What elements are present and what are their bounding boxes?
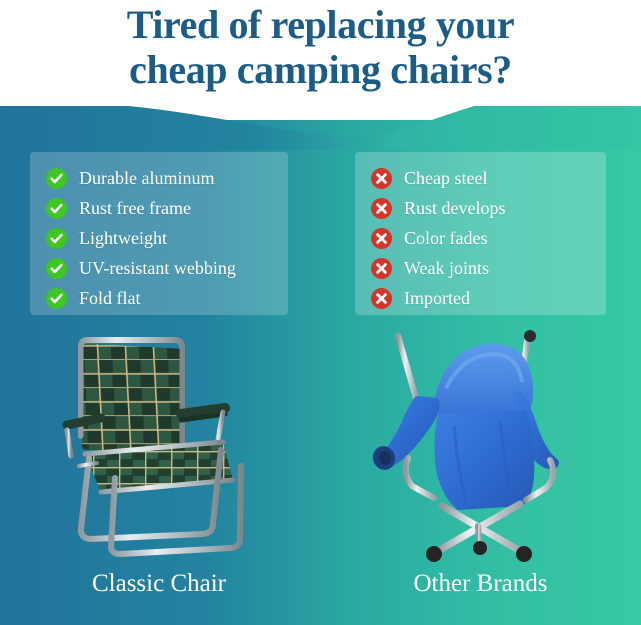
list-item-label: Weak joints: [404, 258, 489, 278]
check-circle-icon: [46, 228, 67, 249]
list-item-label: Color fades: [404, 228, 487, 248]
header: Tired of replacing your cheap camping ch…: [0, 0, 641, 106]
list-item-label: Cheap steel: [404, 168, 487, 188]
check-circle-icon: [46, 288, 67, 309]
list-item: Rust develops: [371, 193, 506, 223]
classic-chair-image: [55, 332, 275, 564]
cross-circle-icon: [371, 198, 392, 219]
cross-circle-icon: [371, 258, 392, 279]
list-item-label: Durable aluminum: [79, 168, 214, 188]
cross-circle-icon: [371, 168, 392, 189]
list-item-label: UV-resistant webbing: [79, 258, 236, 278]
check-circle-icon: [46, 168, 67, 189]
list-item-label: Rust free frame: [79, 198, 191, 218]
page-title: Tired of replacing your cheap camping ch…: [0, 2, 641, 92]
other-brands-caption: Other Brands: [355, 570, 606, 598]
other-brand-chair-image: [350, 330, 605, 564]
pros-panel: Durable aluminum Rust free frame Lightwe…: [30, 152, 288, 315]
comparison-infographic: Tired of replacing your cheap camping ch…: [0, 0, 641, 625]
list-item-label: Lightweight: [79, 228, 167, 248]
list-item: Cheap steel: [371, 163, 506, 193]
list-item-label: Rust develops: [404, 198, 506, 218]
list-item: Weak joints: [371, 253, 506, 283]
list-item: Durable aluminum: [46, 163, 236, 193]
classic-chair-caption: Classic Chair: [30, 570, 288, 598]
list-item: UV-resistant webbing: [46, 253, 236, 283]
list-item: Fold flat: [46, 283, 236, 313]
cons-panel: Cheap steel Rust develops Color fades We…: [355, 152, 606, 315]
headline-line-2: cheap camping chairs?: [0, 47, 641, 92]
list-item-label: Fold flat: [79, 288, 141, 308]
list-item-label: Imported: [404, 288, 470, 308]
cross-circle-icon: [371, 288, 392, 309]
list-item: Lightweight: [46, 223, 236, 253]
check-circle-icon: [46, 258, 67, 279]
list-item: Color fades: [371, 223, 506, 253]
pros-list: Durable aluminum Rust free frame Lightwe…: [46, 163, 236, 313]
list-item: Imported: [371, 283, 506, 313]
cons-list: Cheap steel Rust develops Color fades We…: [371, 163, 506, 313]
headline-line-1: Tired of replacing your: [0, 2, 641, 47]
cross-circle-icon: [371, 228, 392, 249]
check-circle-icon: [46, 198, 67, 219]
list-item: Rust free frame: [46, 193, 236, 223]
